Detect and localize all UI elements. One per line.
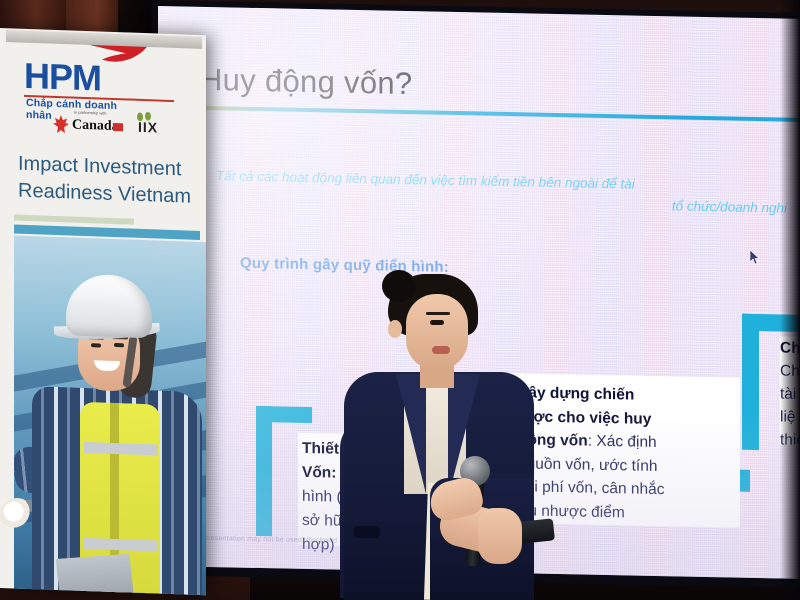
worker-laptop: [56, 554, 134, 595]
hpm-wordmark: HPM: [24, 55, 101, 100]
banner-headline: Impact Investment Readiness Vietnam: [18, 151, 196, 211]
banner-photograph: [14, 235, 206, 595]
speaker-eyebrow: [426, 312, 450, 315]
speaker-hand-holding-tablet: [478, 508, 522, 564]
partner-label: in partnership with: [74, 110, 106, 116]
speaker-eye: [430, 320, 444, 325]
right-edge-shadow: [780, 0, 800, 600]
canada-flag-icon: [113, 123, 123, 131]
worker-eye: [114, 343, 124, 347]
hard-hat-icon: [66, 273, 152, 338]
photo-scene: Huy động vốn? Tất cả các hoạt động liên …: [0, 0, 800, 600]
step-2-line-3-rest: : Xác định: [588, 433, 657, 451]
speaker-lapel: [396, 374, 426, 494]
canada-wordmark: Canada: [72, 118, 119, 136]
flower-decoration: [0, 498, 34, 532]
speaker-mouth: [432, 346, 450, 354]
banner-headline-line-2: Readiness Vietnam: [18, 178, 196, 211]
mouse-pointer-icon: [750, 250, 761, 264]
banner-accent-olive: [14, 214, 134, 224]
speaker-hair-bun: [382, 270, 416, 302]
speaker-face: [406, 294, 468, 370]
iix-wordmark: IIX: [138, 119, 158, 136]
worker-eye: [91, 343, 101, 347]
speaker-ear: [388, 320, 402, 338]
partner-logos: in partnership with Canada IIX: [50, 110, 170, 140]
canada-maple-leaf-icon: [52, 114, 70, 135]
hpm-logo: HPM Chắp cánh doanh nhân: [24, 41, 144, 97]
speaker-cuff: [354, 526, 380, 538]
speaker-person: [330, 268, 560, 600]
